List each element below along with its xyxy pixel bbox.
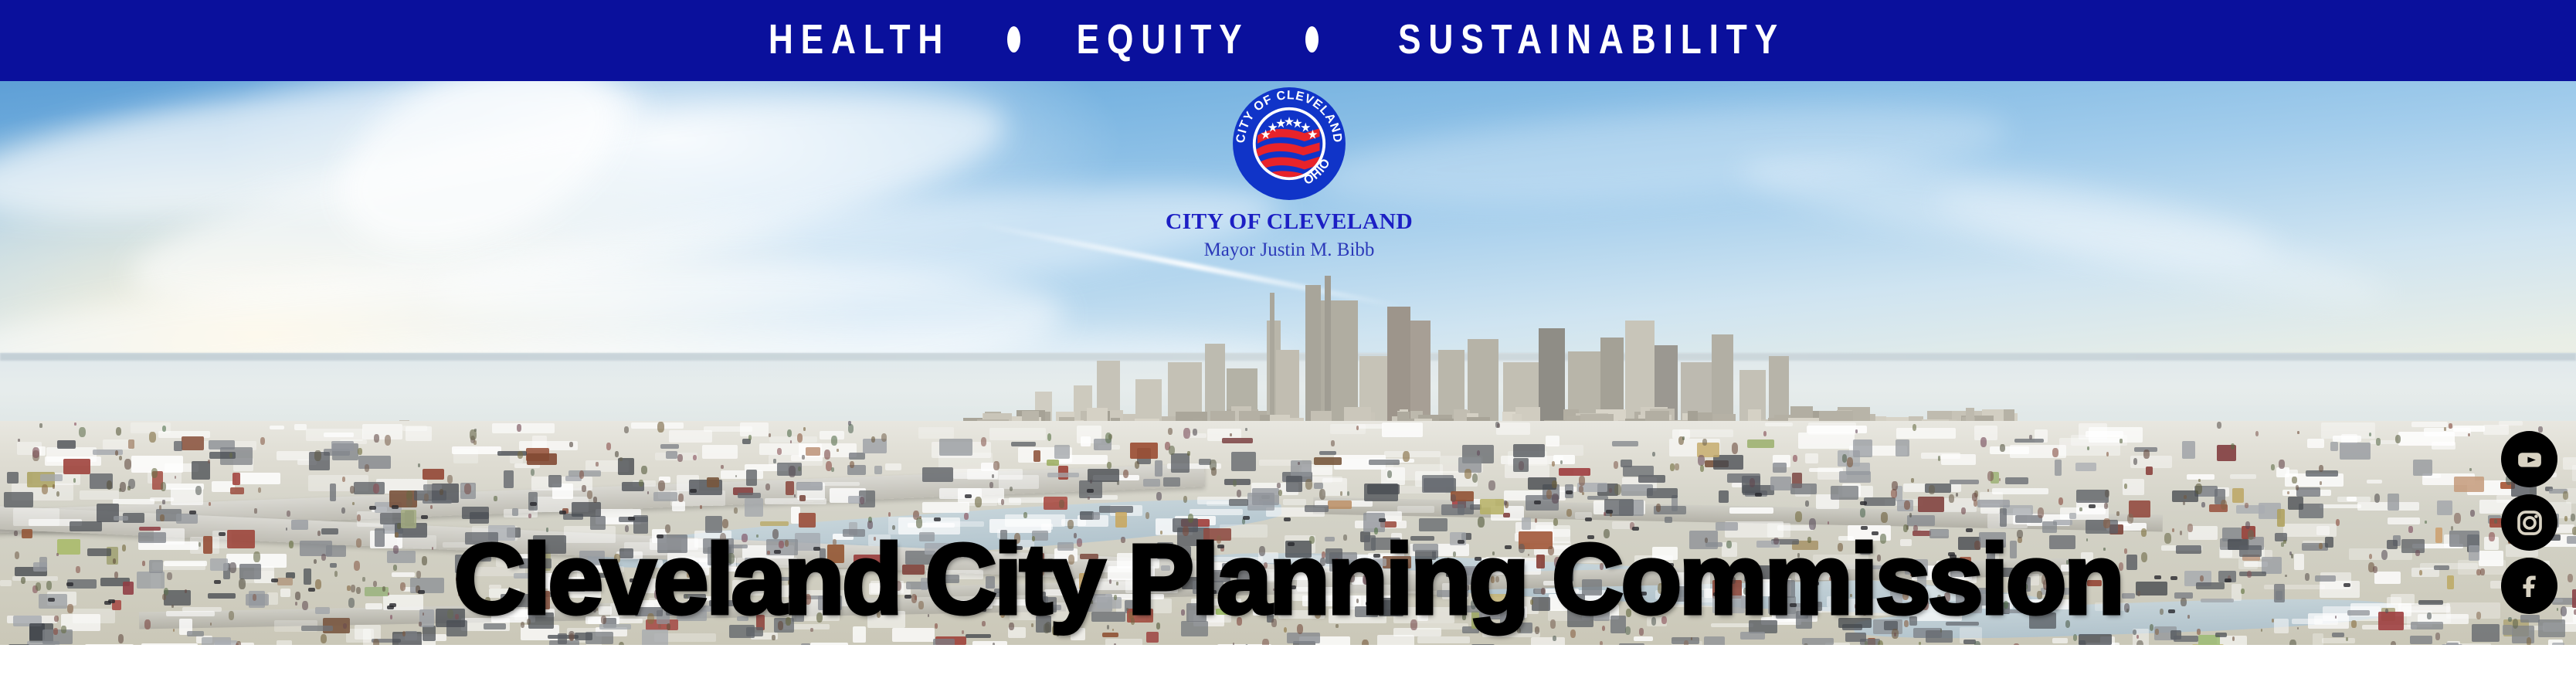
tagline-word-health: HEALTH bbox=[769, 19, 950, 60]
tagline-separator-dot-1 bbox=[1007, 26, 1020, 53]
city-seal-icon: CITY OF CLEVELAND OHIO bbox=[1230, 85, 1348, 202]
logo-mayor-name: Mayor Justin M. Bibb bbox=[1204, 240, 1375, 260]
instagram-link[interactable] bbox=[2501, 494, 2557, 551]
tagline-banner-inner: HEALTH EQUITY SUSTAINABILITY bbox=[748, 19, 1828, 60]
bottom-white-strip bbox=[0, 645, 2576, 682]
tagline-word-equity: EQUITY bbox=[1077, 19, 1250, 60]
youtube-link[interactable] bbox=[2501, 431, 2557, 487]
page-root: HEALTH EQUITY SUSTAINABILITY bbox=[0, 0, 2576, 682]
page-title: Cleveland City Planning Commission bbox=[0, 531, 2576, 629]
tagline-word-sustainability: SUSTAINABILITY bbox=[1398, 19, 1785, 60]
city-logo: CITY OF CLEVELAND OHIO CITY OF CLEVELAND… bbox=[1158, 85, 1420, 317]
facebook-link[interactable] bbox=[2501, 558, 2557, 614]
social-links bbox=[2501, 431, 2557, 614]
tagline-banner: HEALTH EQUITY SUSTAINABILITY bbox=[0, 0, 2576, 81]
hero-photo: CITY OF CLEVELAND OHIO CITY OF CLEVELAND… bbox=[0, 81, 2576, 645]
logo-city-name: CITY OF CLEVELAND bbox=[1166, 211, 1413, 233]
tagline-separator-dot-2 bbox=[1305, 26, 1319, 53]
